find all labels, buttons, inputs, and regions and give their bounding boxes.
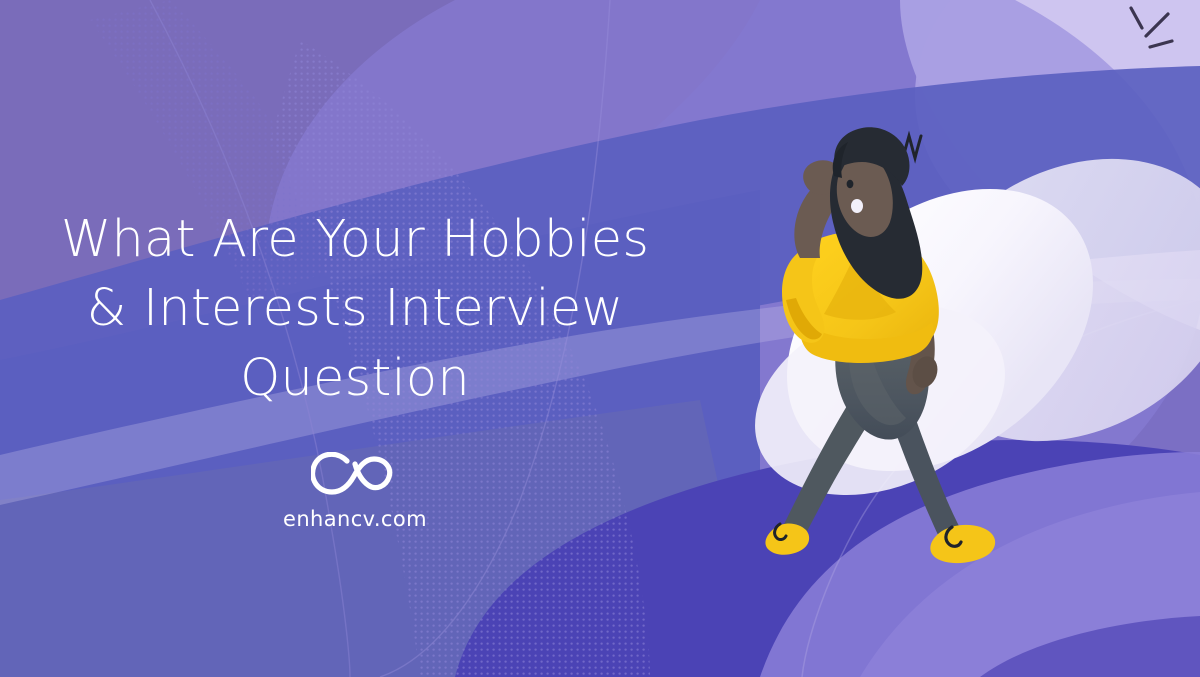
figure-group <box>765 8 1172 563</box>
earring <box>851 199 863 213</box>
headline-block: What Are Your Hobbies & Interests Interv… <box>40 205 670 413</box>
blog-cover-image: What Are Your Hobbies & Interests Interv… <box>0 0 1200 677</box>
brand-wordmark: enhancv.com <box>283 507 427 531</box>
spark-dashes-icon <box>1131 8 1172 47</box>
enhancv-loop-logo-icon <box>311 452 399 498</box>
brand-logo[interactable]: enhancv.com <box>40 452 670 531</box>
shoe-back <box>765 523 809 554</box>
eye <box>847 180 854 188</box>
page-title: What Are Your Hobbies & Interests Interv… <box>40 205 670 413</box>
